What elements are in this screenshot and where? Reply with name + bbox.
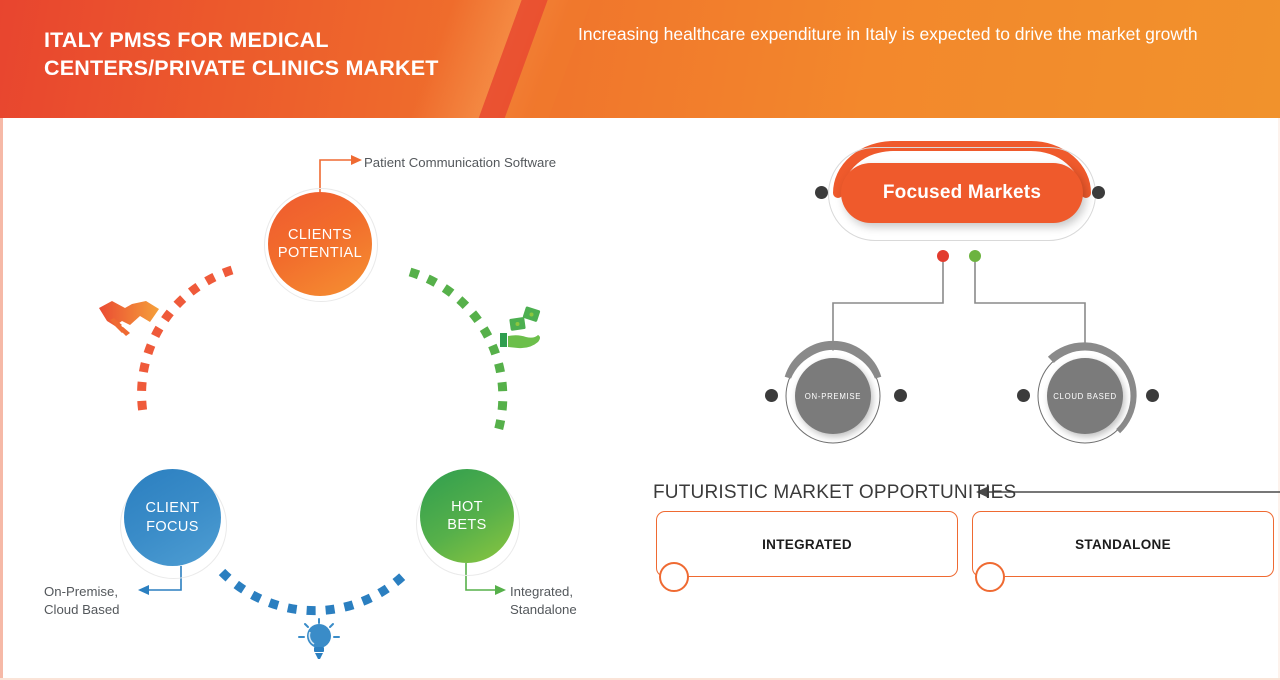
red-dot: [937, 250, 949, 262]
clients-potential-label-1: CLIENTS: [278, 226, 362, 244]
header-subtitle: Increasing healthcare expenditure in Ita…: [578, 22, 1258, 47]
standalone-corner-circle: [975, 562, 1005, 592]
hot-bets-label-1: HOT: [447, 498, 486, 516]
right-panel-connectors: [833, 262, 1085, 352]
opportunity-box-integrated[interactable]: INTEGRATED: [656, 511, 958, 577]
green-dot: [969, 250, 981, 262]
node-clients-potential[interactable]: CLIENTS POTENTIAL: [268, 192, 372, 296]
node-hot-bets[interactable]: HOT BETS: [420, 469, 514, 563]
arc-blue: [222, 572, 406, 611]
header-banner: ITALY PMSS FOR MEDICAL CENTERS/PRIVATE C…: [0, 0, 1280, 118]
cloud-based-label: CLOUD BASED: [1053, 392, 1117, 401]
client-focus-callout-label: On-Premise, Cloud Based: [44, 583, 154, 619]
node-cloud-based[interactable]: CLOUD BASED: [1047, 358, 1123, 434]
futuristic-arrow: [976, 486, 1280, 498]
node-on-premise[interactable]: ON-PREMISE: [795, 358, 871, 434]
money-hand-icon: [498, 306, 546, 354]
integrated-corner-circle: [659, 562, 689, 592]
client-focus-callout-line2: Cloud Based: [44, 602, 120, 617]
opportunity-box-standalone[interactable]: STANDALONE: [972, 511, 1274, 577]
futuristic-title: FUTURISTIC MARKET OPPORTUNITIES: [653, 482, 1016, 504]
arc-green: [410, 272, 503, 435]
page-title: ITALY PMSS FOR MEDICAL CENTERS/PRIVATE C…: [44, 26, 464, 83]
on-premise-dot-right: [894, 389, 907, 402]
handshake-icon: [96, 292, 162, 344]
hot-bets-label-2: BETS: [447, 516, 486, 534]
focused-markets-pill[interactable]: Focused Markets: [841, 163, 1083, 223]
clients-potential-label-2: POTENTIAL: [278, 244, 362, 262]
standalone-label: STANDALONE: [1075, 537, 1171, 552]
on-premise-label: ON-PREMISE: [805, 392, 861, 401]
hot-bets-callout-line2: Standalone: [510, 602, 577, 617]
on-premise-dot-left: [765, 389, 778, 402]
integrated-label: INTEGRATED: [762, 537, 852, 552]
focused-markets-dot-left: [815, 186, 828, 199]
focused-markets-dot-right: [1092, 186, 1105, 199]
hot-bets-callout-label: Integrated, Standalone: [510, 583, 630, 619]
client-focus-label-1: CLIENT: [146, 499, 200, 517]
infographic-page: ITALY PMSS FOR MEDICAL CENTERS/PRIVATE C…: [0, 0, 1280, 680]
client-focus-callout-line1: On-Premise,: [44, 584, 118, 599]
hot-bets-callout-line1: Integrated,: [510, 584, 573, 599]
clients-potential-connector: [320, 155, 362, 192]
frame-left-border: [0, 118, 3, 680]
lightbulb-icon: [296, 616, 342, 664]
client-focus-label-2: FOCUS: [146, 518, 200, 536]
cloud-based-dot-right: [1146, 389, 1159, 402]
cloud-based-dot-left: [1017, 389, 1030, 402]
node-client-focus[interactable]: CLIENT FOCUS: [124, 469, 221, 566]
clients-potential-callout-label: Patient Communication Software: [364, 154, 624, 172]
